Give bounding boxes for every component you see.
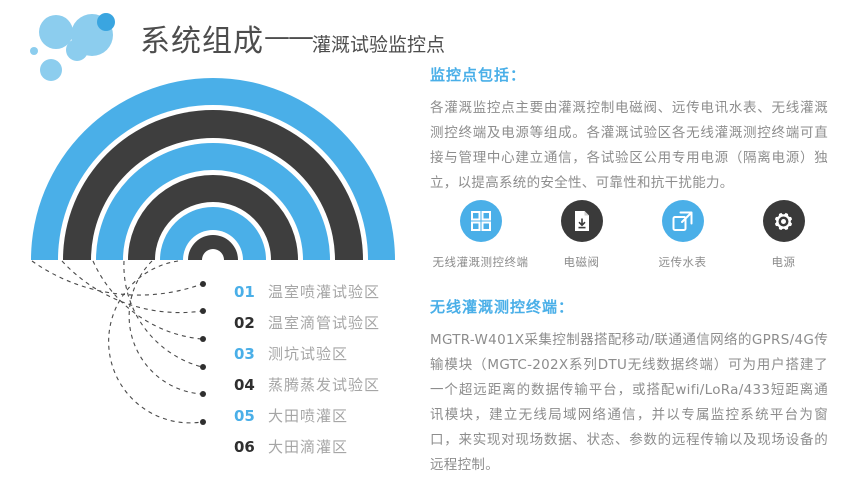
list-item[interactable]: 05 大田喷灌区 xyxy=(234,403,424,430)
list-item[interactable]: 02 温室滴管试验区 xyxy=(234,310,424,337)
device-caption: 无线灌溉测控终端 xyxy=(433,254,529,270)
zone-label: 大田滴灌区 xyxy=(268,434,348,461)
section-heading-monitoring-points: 监控点包括： xyxy=(430,64,526,85)
external-link-icon-glyph xyxy=(672,210,694,232)
connector-dot-2 xyxy=(200,308,206,314)
device-caption: 电源 xyxy=(772,254,796,270)
external-link-icon[interactable] xyxy=(662,200,704,242)
zone-list: 01 温室喷灌试验区 02 温室滴管试验区 03 测坑试验区 04 蒸腾蒸发试验… xyxy=(234,279,424,465)
zone-label: 温室喷灌试验区 xyxy=(268,279,380,306)
list-item[interactable]: 04 蒸腾蒸发试验区 xyxy=(234,372,424,399)
zone-label: 大田喷灌区 xyxy=(268,403,348,430)
device-item-meter[interactable]: 远传水表 xyxy=(632,200,733,275)
page-title-main: 系统组成 xyxy=(140,24,264,59)
zone-number: 01 xyxy=(234,279,260,306)
page-title-dash: —— xyxy=(264,22,312,52)
connector-dot-1 xyxy=(200,281,206,287)
section-heading-wireless-terminal: 无线灌溉测控终端： xyxy=(430,296,574,317)
connector-dot-6 xyxy=(200,419,206,425)
grid-icon-glyph xyxy=(470,210,492,232)
right-panel: 监控点包括： 各灌溉监控点主要由灌溉控制电磁阀、远传电讯水表、无线灌溉测控终端及… xyxy=(425,0,852,469)
zone-label: 蒸腾蒸发试验区 xyxy=(268,372,380,399)
connector-4 xyxy=(124,261,202,367)
section-body-monitoring-points: 各灌溉监控点主要由灌溉控制电磁阀、远传电讯水表、无线灌溉测控终端及电源等组成。各… xyxy=(430,96,828,196)
gear-icon-glyph xyxy=(772,210,795,233)
connector-dot-3 xyxy=(200,336,206,342)
zone-label: 测坑试验区 xyxy=(268,341,348,368)
device-item-valve[interactable]: 电磁阀 xyxy=(531,200,632,275)
list-item[interactable]: 06 大田滴灌区 xyxy=(234,434,424,461)
connector-dot-4 xyxy=(200,364,206,370)
device-caption: 电磁阀 xyxy=(564,254,600,270)
grid-icon[interactable] xyxy=(460,200,502,242)
slide-root: 系统组成——灌溉试验监控点 xyxy=(0,0,852,469)
section-body-wireless-terminal: MGTR-W401X采集控制器搭配移动/联通通信网络的GPRS/4G传输模块（M… xyxy=(430,328,828,478)
connector-5 xyxy=(129,261,202,394)
list-item[interactable]: 01 温室喷灌试验区 xyxy=(234,279,424,306)
file-download-icon-glyph xyxy=(572,210,592,232)
arc-svg xyxy=(0,55,425,270)
zone-number: 06 xyxy=(234,434,260,461)
bubble-dot-left xyxy=(30,47,38,55)
connectors-svg xyxy=(0,255,260,469)
zone-number: 04 xyxy=(234,372,260,399)
bubble-accent-small xyxy=(97,13,115,31)
connector-6 xyxy=(109,261,202,423)
zone-number: 02 xyxy=(234,310,260,337)
concentric-arc-diagram xyxy=(0,55,425,270)
device-caption: 远传水表 xyxy=(659,254,707,270)
zone-number: 05 xyxy=(234,403,260,430)
device-item-power[interactable]: 电源 xyxy=(733,200,834,275)
connector-1 xyxy=(32,261,202,295)
zone-label: 温室滴管试验区 xyxy=(268,310,380,337)
file-download-icon[interactable] xyxy=(561,200,603,242)
device-icon-row: 无线灌溉测控终端 电磁阀 xyxy=(430,200,834,275)
page-title: 系统组成——灌溉试验监控点 xyxy=(140,16,445,60)
connector-dot-5 xyxy=(200,391,206,397)
zone-number: 03 xyxy=(234,341,260,368)
device-item-terminal[interactable]: 无线灌溉测控终端 xyxy=(430,200,531,275)
left-panel: 系统组成——灌溉试验监控点 xyxy=(0,0,425,469)
list-item[interactable]: 03 测坑试验区 xyxy=(234,341,424,368)
connector-lines xyxy=(0,255,260,469)
gear-icon[interactable] xyxy=(763,200,805,242)
